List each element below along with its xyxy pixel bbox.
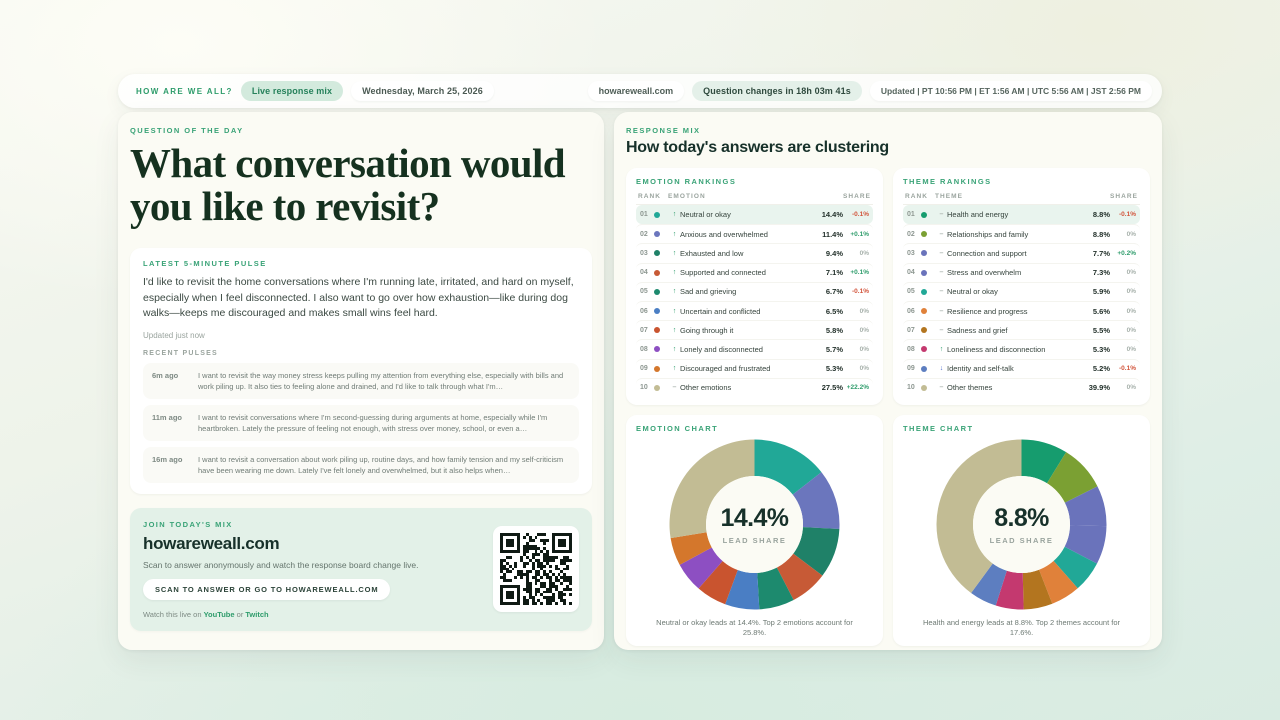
trend-icon: – — [936, 250, 947, 257]
live-response-mix-pill[interactable]: Live response mix — [241, 81, 343, 101]
pulse-updated-label: Updated just now — [143, 331, 579, 340]
trend-icon: – — [936, 269, 947, 276]
table-row[interactable]: 03–Connection and support7.7%+0.2% — [903, 243, 1140, 262]
delta-value: 0% — [1110, 288, 1136, 295]
emotion-label: Discouraged and frustrated — [680, 364, 813, 373]
delta-value: -0.1% — [843, 288, 869, 295]
col-share: SHARE — [1082, 193, 1138, 200]
theme-color-dot — [921, 385, 927, 391]
theme-donut-chart[interactable]: 8.8% LEAD SHARE — [934, 437, 1109, 612]
delta-value: 0% — [1110, 384, 1136, 391]
theme-rankings-card: THEME RANKINGS RANK THEME SHARE 01–Healt… — [893, 168, 1150, 405]
delta-value: +0.1% — [843, 231, 869, 238]
share-value: 5.5% — [1080, 326, 1110, 335]
qr-code-matrix — [500, 533, 572, 605]
theme-color-dot — [921, 308, 927, 314]
table-row[interactable]: 08↑Lonely and disconnected5.7%0% — [636, 339, 873, 358]
theme-label: Relationships and family — [947, 230, 1080, 239]
trend-icon: ↑ — [669, 211, 680, 218]
emotion-color-dot — [654, 366, 660, 372]
delta-value: 0% — [843, 327, 869, 334]
domain-pill[interactable]: howareweall.com — [588, 81, 685, 101]
col-rank: RANK — [638, 193, 668, 200]
delta-value: +0.1% — [843, 269, 869, 276]
rank-number: 09 — [640, 365, 654, 372]
share-value: 8.8% — [1080, 210, 1110, 219]
theme-label: Resilience and progress — [947, 307, 1080, 316]
emotion-color-dot — [654, 346, 660, 352]
emotion-donut-svg — [667, 437, 842, 612]
emotion-donut-chart[interactable]: 14.4% LEAD SHARE — [667, 437, 842, 612]
trend-icon: ↓ — [936, 365, 947, 372]
date-pill: Wednesday, March 25, 2026 — [351, 81, 494, 101]
emotion-rankings-card: EMOTION RANKINGS RANK EMOTION SHARE 01↑N… — [626, 168, 883, 405]
theme-color-dot — [921, 366, 927, 372]
table-row[interactable]: 02↑Anxious and overwhelmed11.4%+0.1% — [636, 224, 873, 243]
list-item[interactable]: 16m ago I want to revisit a conversation… — [143, 447, 579, 483]
theme-color-dot — [921, 346, 927, 352]
trend-icon: ↑ — [669, 288, 680, 295]
rank-number: 05 — [640, 288, 654, 295]
share-value: 5.9% — [1080, 287, 1110, 296]
brand-label: HOW ARE WE ALL? — [128, 87, 233, 96]
theme-rankings-eyebrow: THEME RANKINGS — [903, 177, 1140, 186]
theme-color-dot — [921, 270, 927, 276]
charts-row: EMOTION CHART 14.4% LEAD SHARE Neutral o… — [626, 415, 1150, 646]
emotion-label: Exhausted and low — [680, 249, 813, 258]
rank-number: 10 — [640, 384, 654, 391]
donut-hole — [706, 476, 803, 573]
theme-label: Other themes — [947, 383, 1080, 392]
rank-number: 04 — [907, 269, 921, 276]
rank-number: 03 — [907, 250, 921, 257]
table-row[interactable]: 01–Health and energy8.8%-0.1% — [903, 205, 1140, 224]
rank-number: 10 — [907, 384, 921, 391]
list-item[interactable]: 6m ago I want to revisit the way money s… — [143, 363, 579, 399]
table-row[interactable]: 06–Resilience and progress5.6%0% — [903, 301, 1140, 320]
emotion-chart-eyebrow: EMOTION CHART — [636, 424, 718, 433]
emotion-color-dot — [654, 327, 660, 333]
share-value: 7.1% — [813, 268, 843, 277]
trend-icon: ↑ — [669, 231, 680, 238]
qr-module — [569, 602, 572, 605]
col-rank: RANK — [905, 193, 935, 200]
donut-hole — [973, 476, 1070, 573]
delta-value: 0% — [843, 365, 869, 372]
rank-number: 07 — [640, 327, 654, 334]
rank-number: 08 — [640, 346, 654, 353]
table-row[interactable]: 10–Other themes39.9%0% — [903, 378, 1140, 397]
emotion-color-dot — [654, 250, 660, 256]
trend-icon: ↑ — [669, 269, 680, 276]
top-bar: HOW ARE WE ALL? Live response mix Wednes… — [118, 74, 1162, 108]
table-row[interactable]: 04↑Supported and connected7.1%+0.1% — [636, 263, 873, 282]
trend-icon: ↑ — [669, 308, 680, 315]
trend-icon: ↑ — [669, 346, 680, 353]
emotion-table-header: RANK EMOTION SHARE — [636, 193, 873, 205]
qr-code[interactable] — [493, 526, 579, 612]
theme-chart-note: Health and energy leads at 8.8%. Top 2 t… — [914, 618, 1129, 639]
table-row[interactable]: 10–Other emotions27.5%+22.2% — [636, 378, 873, 397]
emotion-label: Neutral or okay — [680, 210, 813, 219]
share-value: 6.5% — [813, 307, 843, 316]
share-value: 5.3% — [813, 364, 843, 373]
rank-number: 04 — [640, 269, 654, 276]
theme-color-dot — [921, 327, 927, 333]
join-domain-label: howareweall.com — [143, 534, 481, 554]
join-eyebrow: JOIN TODAY'S MIX — [143, 520, 481, 529]
rank-number: 05 — [907, 288, 921, 295]
trend-icon: ↑ — [669, 250, 680, 257]
rank-number: 02 — [907, 231, 921, 238]
share-value: 5.8% — [813, 326, 843, 335]
response-mix-panel: RESPONSE MIX How today's answers are clu… — [614, 112, 1162, 650]
table-row[interactable]: 09↑Discouraged and frustrated5.3%0% — [636, 359, 873, 378]
theme-chart-eyebrow: THEME CHART — [903, 424, 974, 433]
rank-number: 09 — [907, 365, 921, 372]
pulse-timestamp: 16m ago — [152, 454, 188, 464]
table-row[interactable]: 05↑Sad and grieving6.7%-0.1% — [636, 282, 873, 301]
share-value: 5.3% — [1080, 345, 1110, 354]
scan-to-answer-button[interactable]: SCAN TO ANSWER OR GO TO HOWAREWEALL.COM — [143, 579, 390, 600]
updated-times-pill: Updated | PT 10:56 PM | ET 1:56 AM | UTC… — [870, 81, 1152, 101]
theme-label: Identity and self-talk — [947, 364, 1080, 373]
rankings-row: EMOTION RANKINGS RANK EMOTION SHARE 01↑N… — [626, 168, 1150, 405]
pulse-eyebrow: LATEST 5-MINUTE PULSE — [143, 259, 579, 268]
watch-live-line: Watch this live on YouTube or Twitch — [143, 610, 481, 619]
emotion-chart-card: EMOTION CHART 14.4% LEAD SHARE Neutral o… — [626, 415, 883, 646]
table-row[interactable]: 02–Relationships and family8.8%0% — [903, 224, 1140, 243]
question-eyebrow: QUESTION OF THE DAY — [130, 126, 592, 135]
rank-number: 01 — [907, 211, 921, 218]
theme-label: Sadness and grief — [947, 326, 1080, 335]
rank-number: 08 — [907, 346, 921, 353]
delta-value: 0% — [1110, 327, 1136, 334]
trend-icon: ↑ — [669, 365, 680, 372]
delta-value: 0% — [843, 308, 869, 315]
delta-value: 0% — [843, 250, 869, 257]
emotion-label: Uncertain and conflicted — [680, 307, 813, 316]
delta-value: 0% — [1110, 269, 1136, 276]
theme-color-dot — [921, 250, 927, 256]
delta-value: -0.1% — [1110, 211, 1136, 218]
rank-number: 02 — [640, 231, 654, 238]
emotion-color-dot — [654, 231, 660, 237]
share-value: 8.8% — [1080, 230, 1110, 239]
emotion-color-dot — [654, 212, 660, 218]
watch-prefix: Watch this live on — [143, 610, 204, 619]
theme-label: Loneliness and disconnection — [947, 345, 1080, 354]
theme-label: Health and energy — [947, 210, 1080, 219]
emotion-label: Supported and connected — [680, 268, 813, 277]
recent-pulses-label: RECENT PULSES — [143, 350, 579, 357]
share-value: 5.6% — [1080, 307, 1110, 316]
share-value: 9.4% — [813, 249, 843, 258]
pulse-timestamp: 6m ago — [152, 370, 188, 380]
table-row[interactable]: 01↑Neutral or okay14.4%-0.1% — [636, 205, 873, 224]
theme-color-dot — [921, 289, 927, 295]
rank-number: 06 — [640, 308, 654, 315]
delta-value: 0% — [1110, 308, 1136, 315]
emotion-color-dot — [654, 270, 660, 276]
emotion-label: Going through it — [680, 326, 813, 335]
table-row[interactable]: 07↑Going through it5.8%0% — [636, 320, 873, 339]
rank-number: 07 — [907, 327, 921, 334]
delta-value: -0.1% — [1110, 365, 1136, 372]
question-panel: QUESTION OF THE DAY What conversation wo… — [118, 112, 604, 650]
theme-label: Neutral or okay — [947, 287, 1080, 296]
trend-icon: ↑ — [936, 346, 947, 353]
pulse-snippet: I want to revisit conversations where I'… — [198, 412, 570, 434]
delta-value: 0% — [1110, 231, 1136, 238]
emotion-label: Sad and grieving — [680, 287, 813, 296]
twitch-link[interactable]: Twitch — [245, 610, 268, 619]
table-row[interactable]: 07–Sadness and grief5.5%0% — [903, 320, 1140, 339]
delta-value: +0.2% — [1110, 250, 1136, 257]
share-value: 39.9% — [1080, 383, 1110, 392]
countdown-pill: Question changes in 18h 03m 41s — [692, 81, 862, 101]
col-emotion: EMOTION — [668, 193, 815, 200]
theme-label: Connection and support — [947, 249, 1080, 258]
pulse-body-text: I'd like to revisit the home conversatio… — [143, 275, 579, 322]
youtube-link[interactable]: YouTube — [204, 610, 235, 619]
trend-icon: ↑ — [669, 327, 680, 334]
app-root: HOW ARE WE ALL? Live response mix Wednes… — [0, 0, 1280, 720]
emotion-color-dot — [654, 385, 660, 391]
join-card-content: JOIN TODAY'S MIX howareweall.com Scan to… — [143, 520, 481, 619]
trend-icon: – — [669, 384, 680, 391]
table-row[interactable]: 06↑Uncertain and conflicted6.5%0% — [636, 301, 873, 320]
emotion-rankings-eyebrow: EMOTION RANKINGS — [636, 177, 873, 186]
trend-icon: – — [936, 384, 947, 391]
trend-icon: – — [936, 211, 947, 218]
rank-number: 03 — [640, 250, 654, 257]
table-row[interactable]: 08↑Loneliness and disconnection5.3%0% — [903, 339, 1140, 358]
rank-number: 06 — [907, 308, 921, 315]
table-row[interactable]: 04–Stress and overwhelm7.3%0% — [903, 263, 1140, 282]
delta-value: 0% — [1110, 346, 1136, 353]
theme-chart-card: THEME CHART 8.8% LEAD SHARE Health and e… — [893, 415, 1150, 646]
theme-color-dot — [921, 231, 927, 237]
emotion-label: Lonely and disconnected — [680, 345, 813, 354]
pulse-timestamp: 11m ago — [152, 412, 188, 422]
share-value: 7.7% — [1080, 249, 1110, 258]
share-value: 5.7% — [813, 345, 843, 354]
theme-color-dot — [921, 212, 927, 218]
join-mix-card: JOIN TODAY'S MIX howareweall.com Scan to… — [130, 508, 592, 631]
theme-table-body: 01–Health and energy8.8%-0.1%02–Relation… — [903, 205, 1140, 397]
table-row[interactable]: 05–Neutral or okay5.9%0% — [903, 282, 1140, 301]
share-value: 6.7% — [813, 287, 843, 296]
join-subtitle: Scan to answer anonymously and watch the… — [143, 560, 481, 570]
delta-value: 0% — [843, 346, 869, 353]
watch-mid: or — [235, 610, 246, 619]
page-title: What conversation would you like to revi… — [130, 142, 592, 228]
emotion-color-dot — [654, 289, 660, 295]
theme-table-header: RANK THEME SHARE — [903, 193, 1140, 205]
trend-icon: – — [936, 308, 947, 315]
list-item[interactable]: 11m ago I want to revisit conversations … — [143, 405, 579, 441]
share-value: 5.2% — [1080, 364, 1110, 373]
share-value: 14.4% — [813, 210, 843, 219]
emotion-color-dot — [654, 308, 660, 314]
trend-icon: – — [936, 231, 947, 238]
delta-value: -0.1% — [843, 211, 869, 218]
col-theme: THEME — [935, 193, 1082, 200]
emotion-label: Anxious and overwhelmed — [680, 230, 813, 239]
share-value: 27.5% — [813, 383, 843, 392]
emotion-table-body: 01↑Neutral or okay14.4%-0.1%02↑Anxious a… — [636, 205, 873, 397]
pulse-snippet: I want to revisit the way money stress k… — [198, 370, 570, 392]
share-value: 7.3% — [1080, 268, 1110, 277]
theme-label: Stress and overwhelm — [947, 268, 1080, 277]
response-mix-title: How today's answers are clustering — [626, 139, 1150, 157]
pulse-snippet: I want to revisit a conversation about w… — [198, 454, 570, 476]
latest-pulse-card: LATEST 5-MINUTE PULSE I'd like to revisi… — [130, 248, 592, 494]
table-row[interactable]: 03↑Exhausted and low9.4%0% — [636, 243, 873, 262]
delta-value: +22.2% — [843, 384, 869, 391]
col-share: SHARE — [815, 193, 871, 200]
theme-donut-svg — [934, 437, 1109, 612]
emotion-label: Other emotions — [680, 383, 813, 392]
share-value: 11.4% — [813, 230, 843, 239]
response-mix-eyebrow: RESPONSE MIX — [626, 126, 1150, 135]
rank-number: 01 — [640, 211, 654, 218]
trend-icon: – — [936, 327, 947, 334]
trend-icon: – — [936, 288, 947, 295]
emotion-chart-note: Neutral or okay leads at 14.4%. Top 2 em… — [647, 618, 862, 639]
table-row[interactable]: 09↓Identity and self-talk5.2%-0.1% — [903, 359, 1140, 378]
